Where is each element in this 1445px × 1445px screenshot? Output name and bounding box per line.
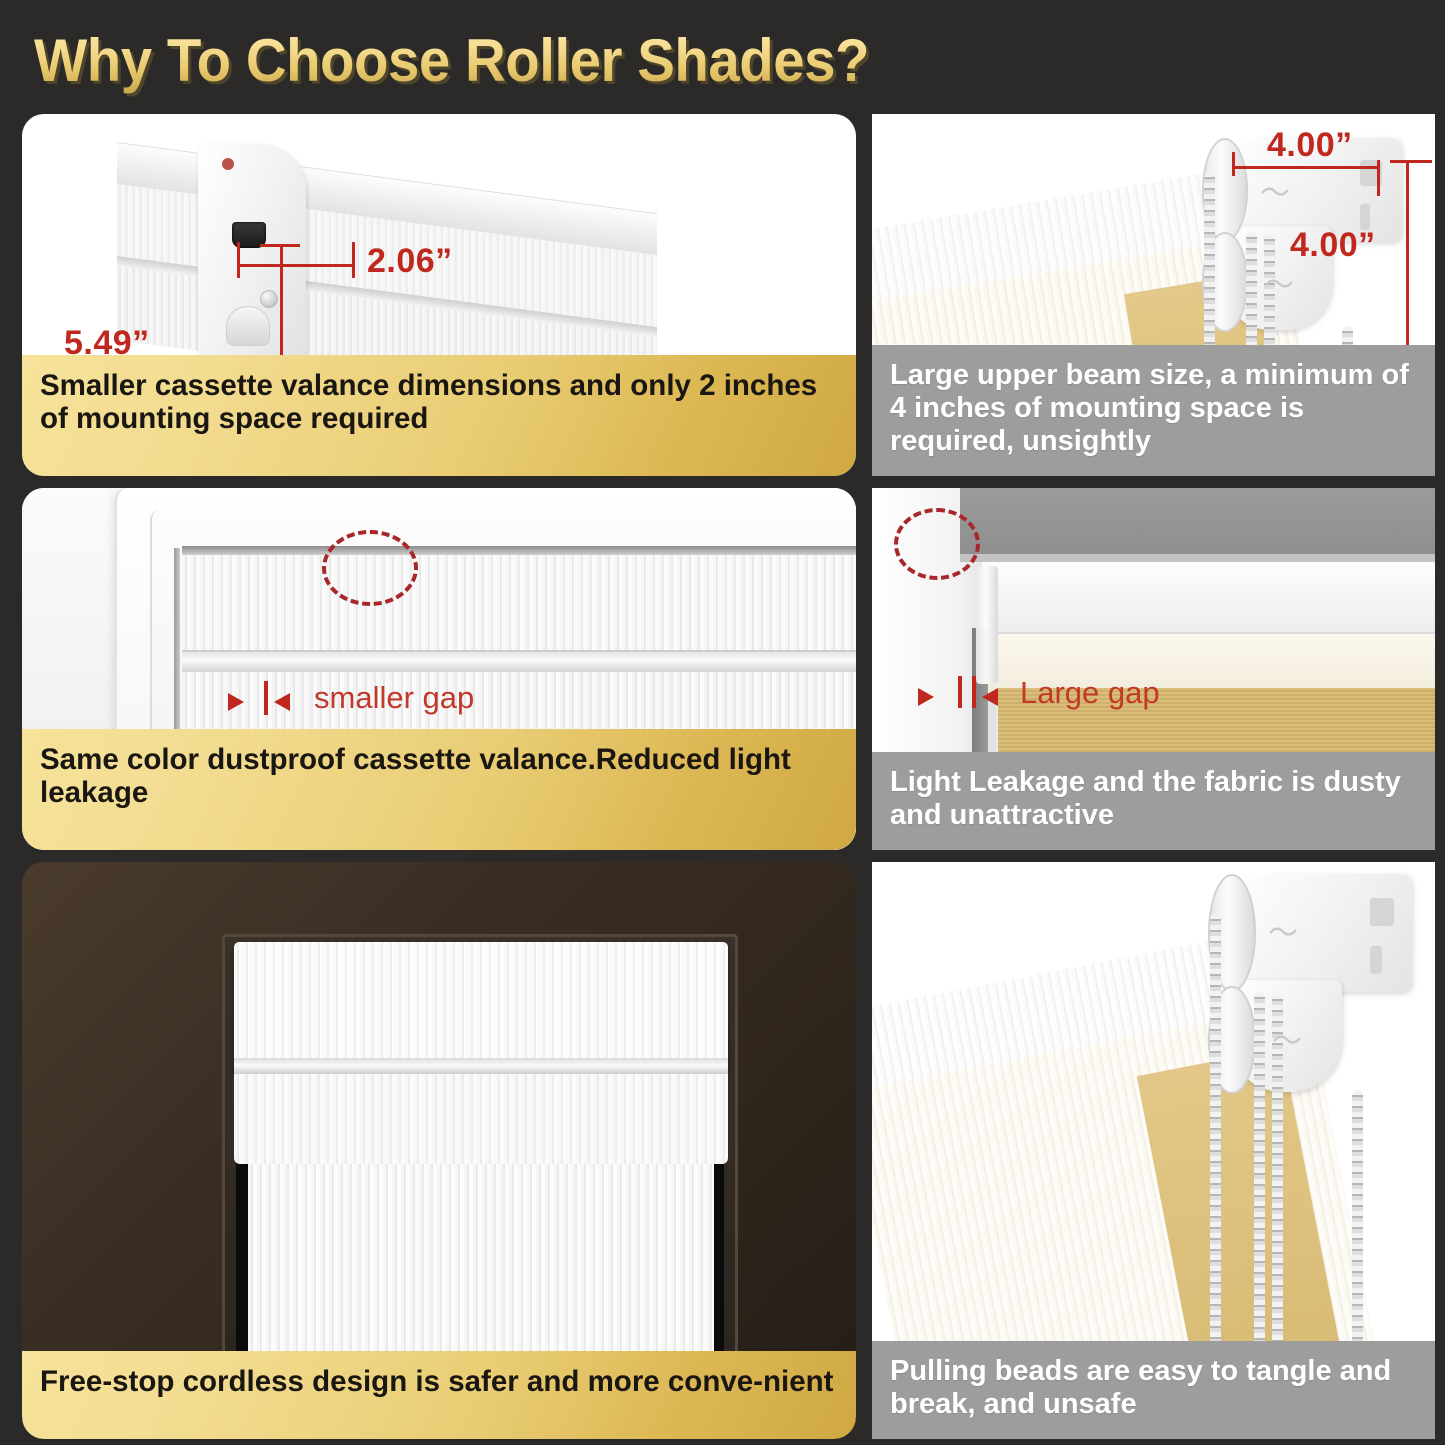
beam-height-tick-top <box>1390 160 1432 163</box>
gap-label: Large gap <box>1020 675 1160 711</box>
panel-smaller-cassette: 2.06” 5.49” Smaller cassette valance dim… <box>22 114 856 476</box>
mount-clip <box>976 566 998 684</box>
gap-marker-line <box>264 681 268 715</box>
gap-marker-line-b <box>972 676 976 708</box>
upper-bracket: 〜 <box>1230 874 1412 992</box>
panel-large-beam: 〜 〜 4.00” 4.00” Large upper beam size, a… <box>872 114 1435 476</box>
gap-label: smaller gap <box>314 680 474 716</box>
screw-icon <box>260 290 278 308</box>
red-screw-icon <box>222 158 234 170</box>
mount-disc-icon <box>226 306 270 346</box>
beam-width-tick-right <box>1377 160 1380 196</box>
panel-5-caption: Free-stop cordless design is safer and m… <box>22 1351 856 1439</box>
panel-4-caption: Light Leakage and the fabric is dusty an… <box>872 752 1435 850</box>
gap-arrow-right <box>274 693 290 711</box>
beam-width-label: 4.00” <box>1267 126 1353 165</box>
panel-light-leakage: Large gap Light Leakage and the fabric i… <box>872 488 1435 850</box>
panel-2-caption: Large upper beam size, a minimum of 4 in… <box>872 345 1435 476</box>
width-tick-right <box>352 242 355 278</box>
highlight-ellipse <box>894 508 980 580</box>
beam-width-tick-left <box>1232 152 1235 176</box>
width-dimension-line <box>237 264 355 267</box>
height-tick-top <box>260 244 300 247</box>
ceiling-edge <box>960 554 1435 562</box>
cassette-rail <box>234 1058 728 1074</box>
header: Why To Choose Roller Shades? Why To Choo… <box>0 0 1445 108</box>
panel-6-caption: Pulling beads are easy to tangle and bre… <box>872 1341 1435 1439</box>
panel-cordless-design: Free-stop cordless design is safer and m… <box>22 862 856 1439</box>
page-title: Why To Choose Roller Shades? <box>34 26 869 95</box>
gap-arrow-right <box>982 688 998 706</box>
ceiling-surface <box>960 488 1435 560</box>
panel-dustproof-valance: smaller gap Same color dustproof cassett… <box>22 488 856 850</box>
beam-height-label: 4.00” <box>1290 226 1376 265</box>
valance-rail <box>182 650 856 672</box>
valance-top-edge <box>182 546 856 555</box>
cassette-valance <box>234 942 728 1074</box>
panel-1-caption: Smaller cassette valance dimensions and … <box>22 355 856 476</box>
width-dimension-label: 2.06” <box>367 242 453 281</box>
panel-3-caption: Same color dustproof cassette valance.Re… <box>22 729 856 850</box>
beam-width-line <box>1232 166 1380 169</box>
valance-end-cap <box>198 144 306 360</box>
upper-beam <box>982 562 1435 634</box>
panel-pulling-beads: 〜 〜 Pulling beads are easy to tangle and… <box>872 862 1435 1439</box>
valance-face <box>182 555 856 650</box>
gap-arrow-left <box>918 688 934 706</box>
gap-marker-line-a <box>958 676 962 708</box>
gap-arrow-left <box>228 693 244 711</box>
highlight-ellipse <box>322 530 418 606</box>
cassette-lower-lip <box>234 1072 728 1164</box>
beam-height-line <box>1406 160 1409 350</box>
comparison-grid: 2.06” 5.49” Smaller cassette valance dim… <box>0 108 1445 1445</box>
width-tick-left <box>237 242 240 278</box>
